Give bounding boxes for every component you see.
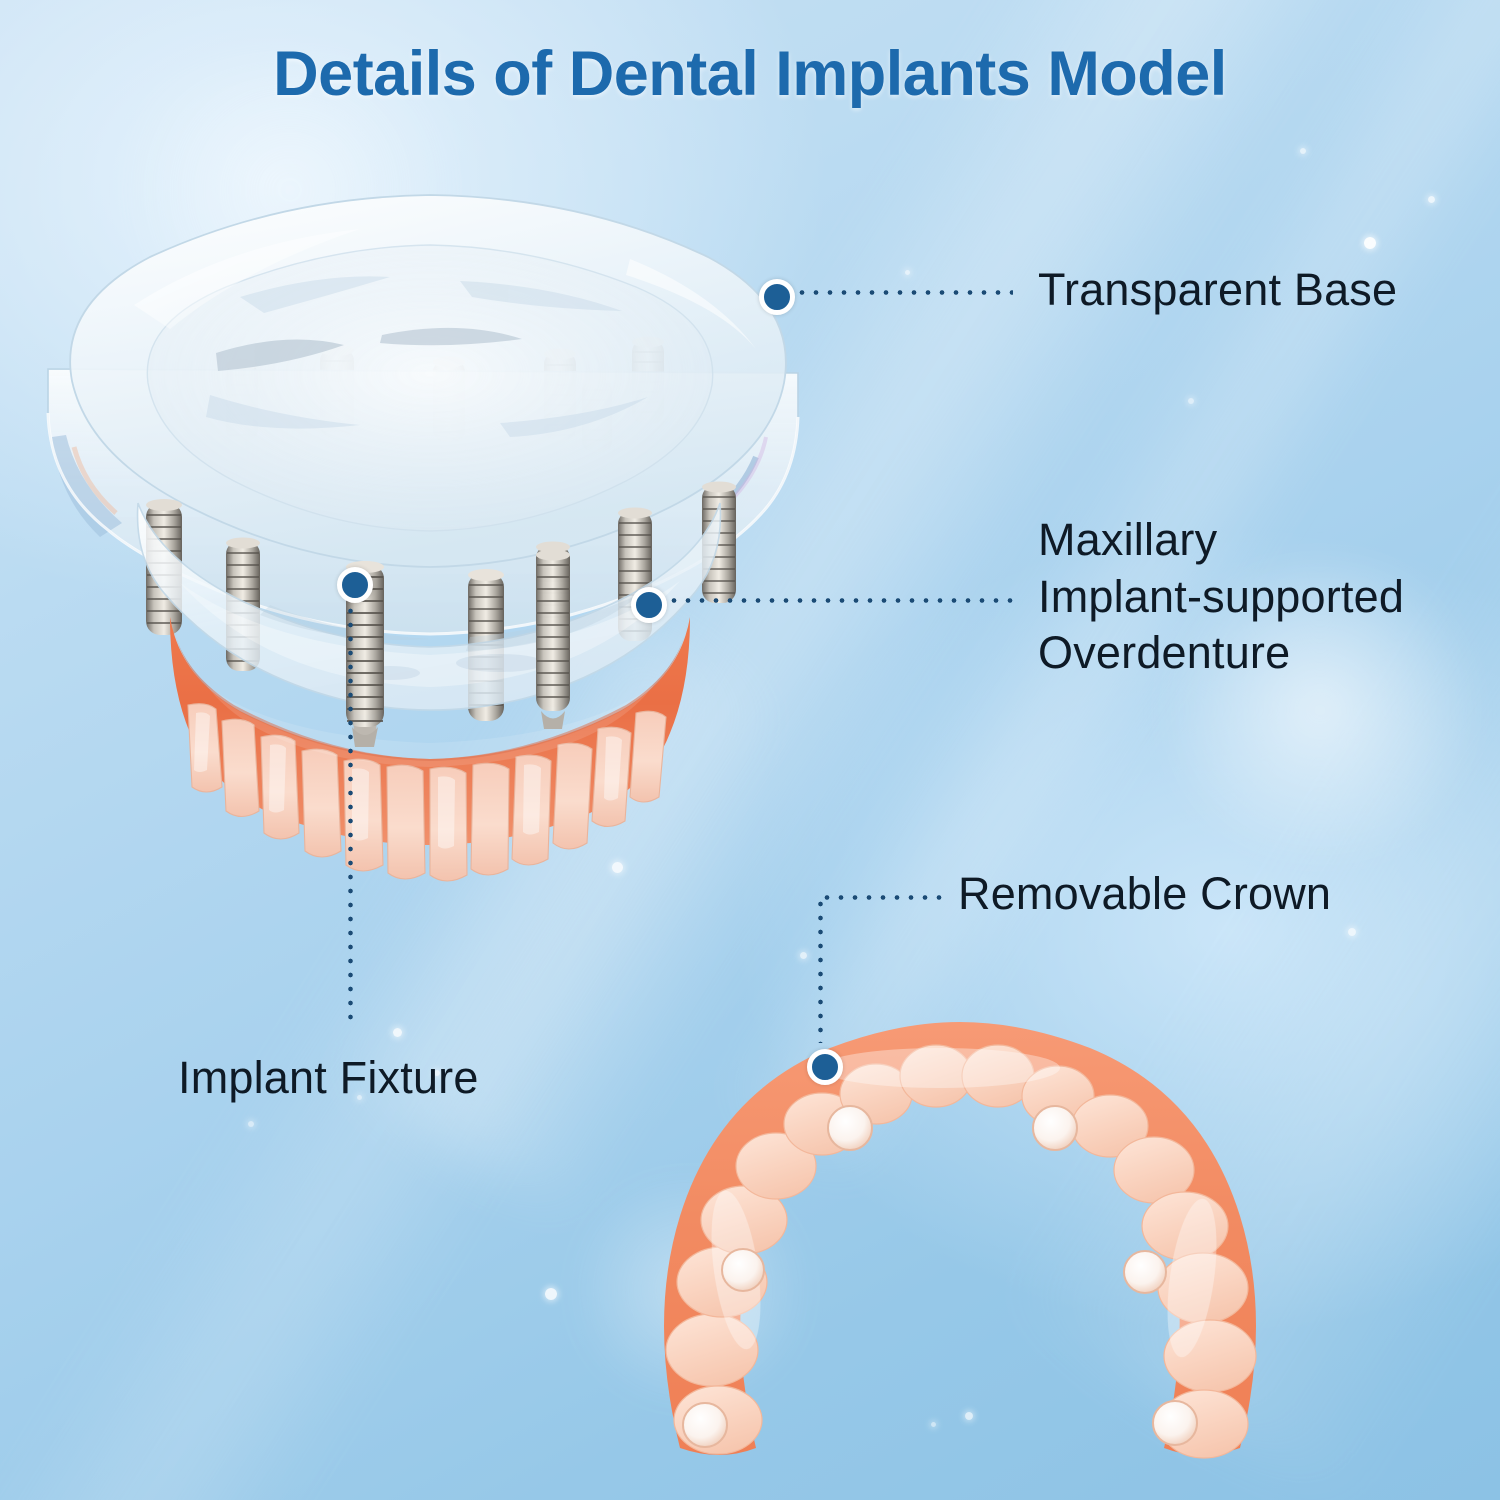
callout-label-maxillary-overdenture: Maxillary Implant-supported Overdenture (1038, 512, 1404, 682)
callout-dot-transparent-base[interactable] (759, 279, 795, 315)
sparkle-icon (248, 1121, 254, 1127)
callout-label-transparent-base: Transparent Base (1038, 262, 1397, 319)
removable-crown-image (640, 1020, 1280, 1470)
callout-dot-maxillary-overdenture[interactable] (631, 587, 667, 623)
leader-line-implant-fixture (348, 604, 353, 1028)
sparkle-icon (905, 270, 910, 275)
sparkle-icon (800, 952, 807, 959)
callout-dot-implant-fixture[interactable] (337, 567, 373, 603)
leader-line-removable-crown-vertical (818, 897, 823, 1043)
sparkle-icon (612, 862, 623, 873)
screw-access-holes (828, 1106, 1077, 1150)
sparkle-icon (393, 1028, 402, 1037)
infographic-canvas: Details of Dental Implants Model (0, 0, 1500, 1500)
sparkle-icon (1188, 398, 1194, 404)
page-title: Details of Dental Implants Model (0, 38, 1500, 110)
leader-line-removable-crown-horizontal (820, 895, 945, 900)
leader-line-maxillary-overdenture (667, 598, 1013, 603)
sparkle-icon (1348, 928, 1356, 936)
sparkle-icon (1300, 148, 1306, 154)
leader-line-transparent-base (795, 290, 1013, 295)
maxillary-implant-model-image (30, 185, 820, 765)
callout-dot-removable-crown[interactable] (807, 1049, 843, 1085)
callout-label-removable-crown: Removable Crown (958, 866, 1331, 923)
callout-label-implant-fixture: Implant Fixture (178, 1050, 479, 1107)
sparkle-icon (545, 1288, 557, 1300)
sparkle-icon (1428, 196, 1435, 203)
sparkle-icon (1364, 237, 1376, 249)
